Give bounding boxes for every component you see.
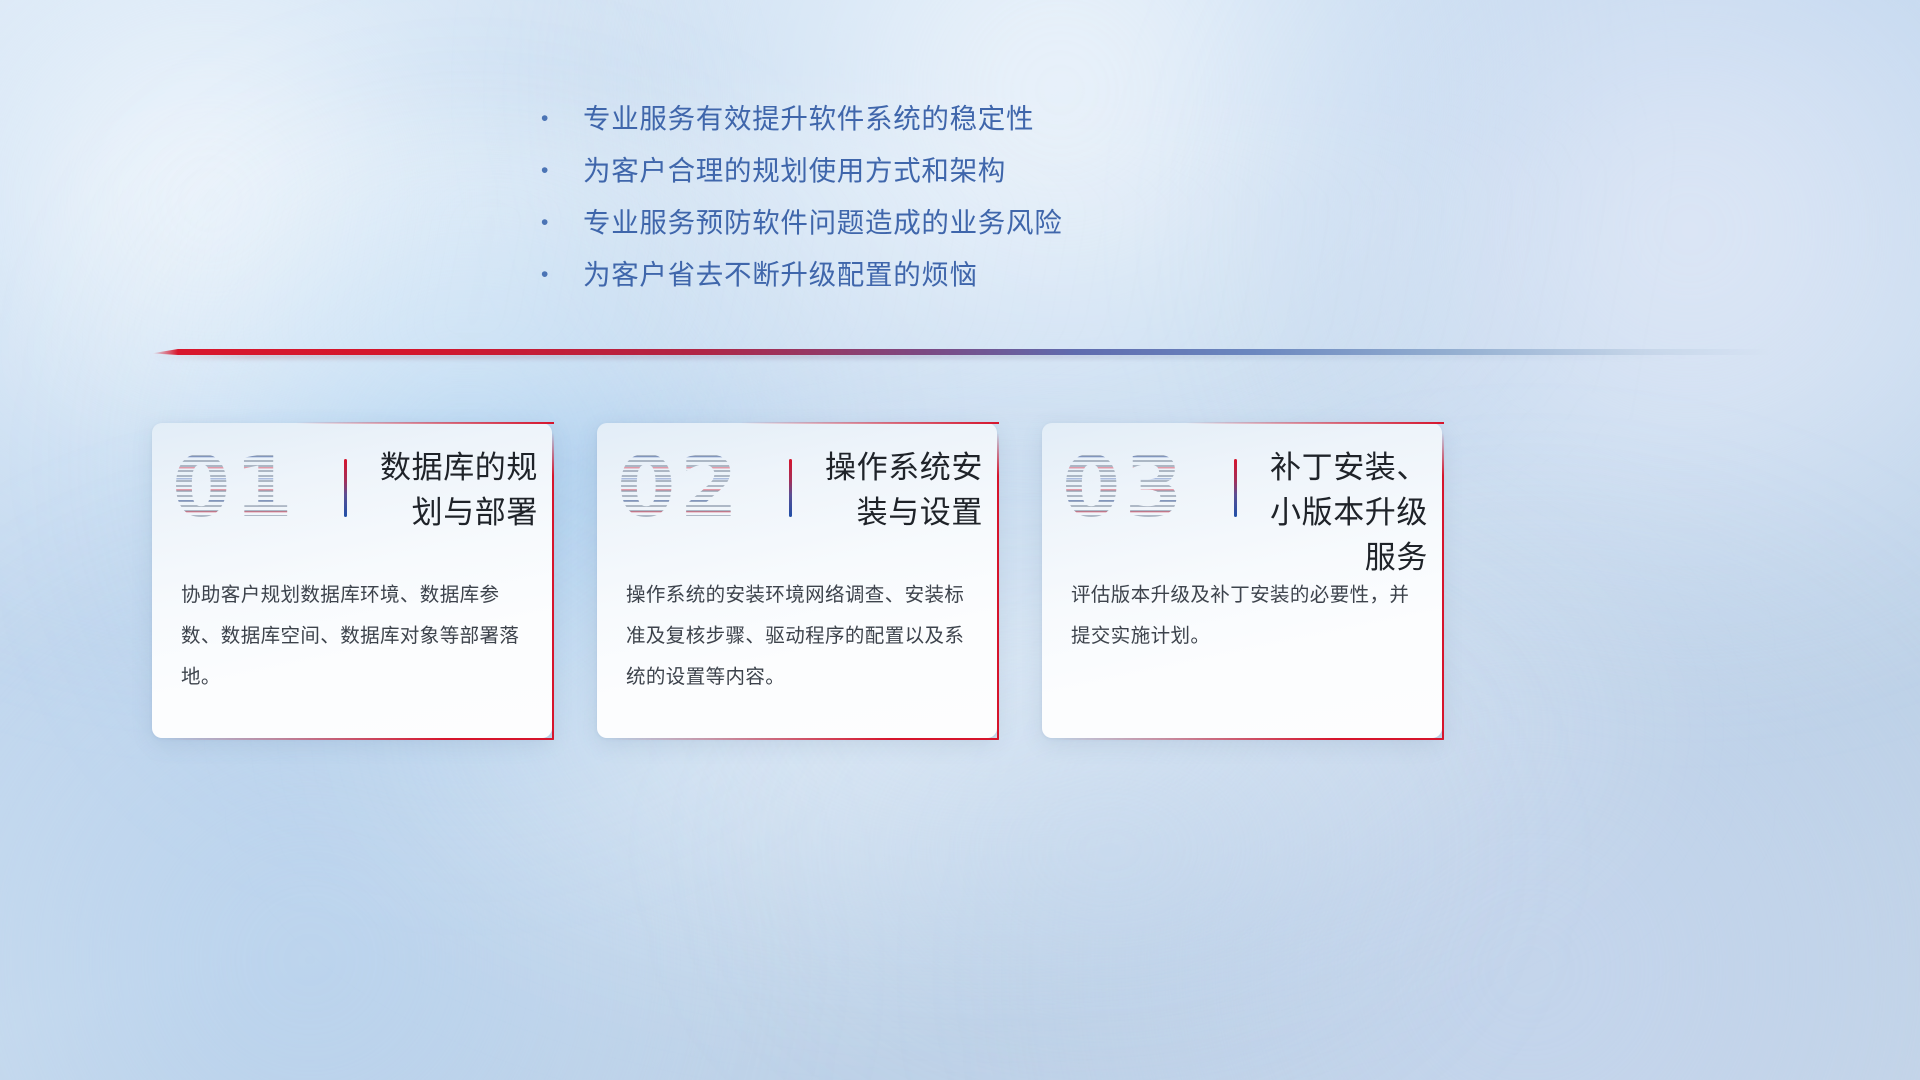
bullet-list: • 专业服务有效提升软件系统的稳定性 • 为客户合理的规划使用方式和架构 • 专… (541, 93, 1301, 301)
divider-bar (152, 349, 1772, 355)
card-header: 03 03 补丁安装、小版本升级服务 (1042, 423, 1442, 553)
card-row: 01 01 数据库的规划与部署 协助客户规划数据库环境、数据库参数、数据库空间、… (152, 423, 1442, 738)
card-body-text: 协助客户规划数据库环境、数据库参数、数据库空间、数据库对象等部署落地。 (181, 575, 526, 698)
service-card[interactable]: 03 03 补丁安装、小版本升级服务 评估版本升级及补丁安装的必要性，并提交实施… (1042, 423, 1442, 738)
service-card[interactable]: 01 01 数据库的规划与部署 协助客户规划数据库环境、数据库参数、数据库空间、… (152, 423, 552, 738)
bullet-point-icon: • (541, 197, 583, 249)
bullet-point-icon: • (541, 93, 583, 145)
card-title: 数据库的规划与部署 (368, 445, 538, 535)
list-item: • 专业服务预防软件问题造成的业务风险 (541, 197, 1301, 249)
card-number-tint: 01 (172, 445, 297, 529)
card-divider-rule (1234, 459, 1237, 517)
list-item: • 为客户合理的规划使用方式和架构 (541, 145, 1301, 197)
bullet-text: 为客户合理的规划使用方式和架构 (583, 145, 1006, 197)
card-edge-bottom (166, 738, 554, 741)
card-edge-bottom (611, 738, 999, 741)
bullet-point-icon: • (541, 145, 583, 197)
bullet-text: 专业服务预防软件问题造成的业务风险 (583, 197, 1062, 249)
bullet-point-icon: • (541, 249, 583, 301)
card-number-tint: 02 (617, 445, 742, 529)
card-title: 补丁安装、小版本升级服务 (1258, 445, 1428, 580)
card-divider-rule (344, 459, 347, 517)
card-header: 02 02 操作系统安装与设置 (597, 423, 997, 553)
list-item: • 专业服务有效提升软件系统的稳定性 (541, 93, 1301, 145)
card-title: 操作系统安装与设置 (813, 445, 983, 535)
card-number-tint: 03 (1062, 445, 1187, 529)
bullet-text: 专业服务有效提升软件系统的稳定性 (583, 93, 1034, 145)
card-body-text: 操作系统的安装环境网络调查、安装标准及复核步骤、驱动程序的配置以及系统的设置等内… (626, 575, 971, 698)
section-divider (152, 345, 1772, 359)
list-item: • 为客户省去不断升级配置的烦恼 (541, 249, 1301, 301)
card-body-text: 评估版本升级及补丁安装的必要性，并提交实施计划。 (1071, 575, 1416, 657)
card-header: 01 01 数据库的规划与部署 (152, 423, 552, 553)
service-card[interactable]: 02 02 操作系统安装与设置 操作系统的安装环境网络调查、安装标准及复核步骤、… (597, 423, 997, 738)
card-divider-rule (789, 459, 792, 517)
bullet-text: 为客户省去不断升级配置的烦恼 (583, 249, 978, 301)
card-edge-bottom (1056, 738, 1444, 741)
